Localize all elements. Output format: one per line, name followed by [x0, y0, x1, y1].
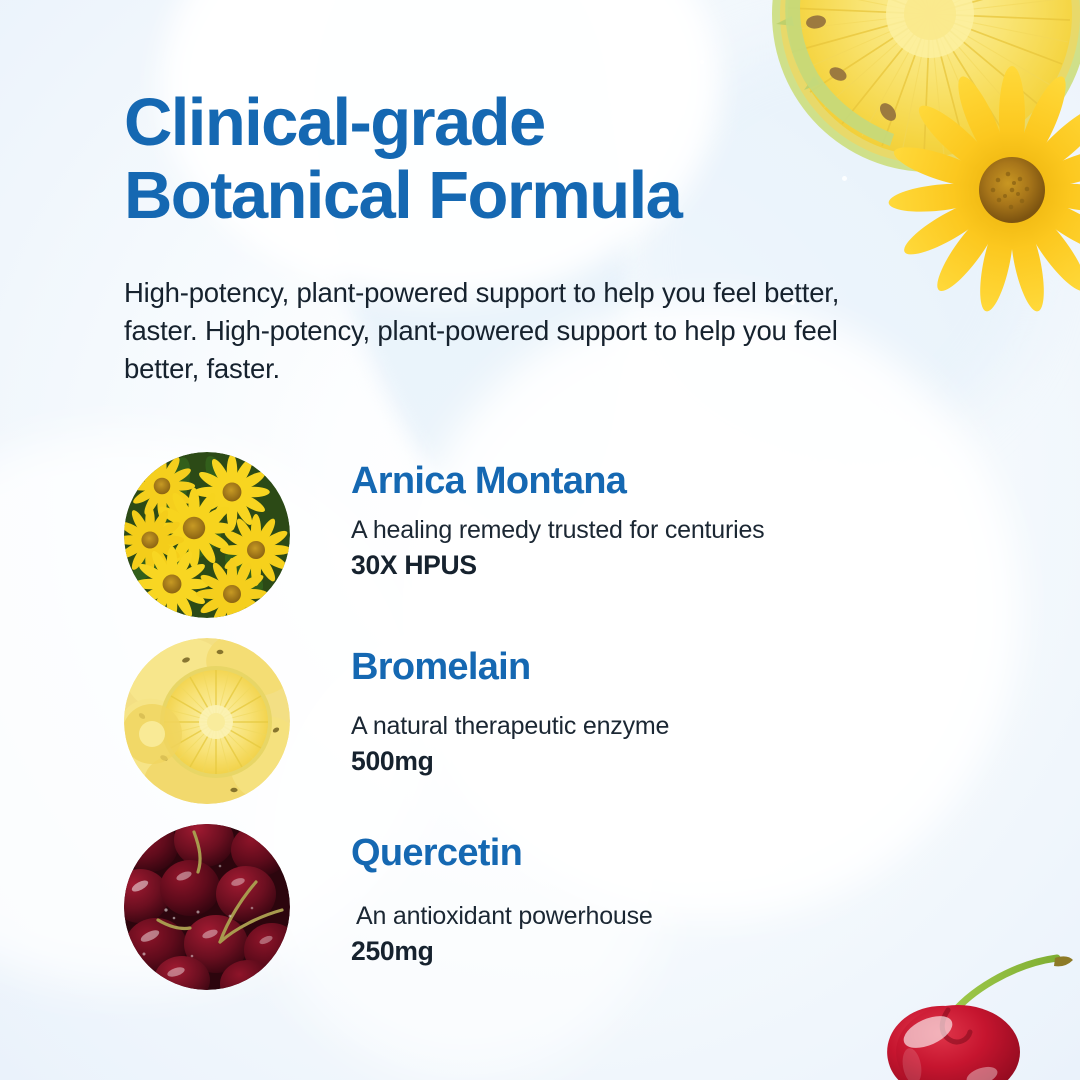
- ingredient-dose: 500mg: [351, 746, 923, 778]
- ingredient-text: Arnica Montana A healing remedy trusted …: [351, 460, 923, 581]
- headline-line-1: Clinical-grade: [124, 85, 545, 160]
- ingredient-description: An antioxidant powerhouse: [351, 901, 923, 931]
- ingredient-description: A natural therapeutic enzyme: [351, 711, 923, 741]
- list-item: Quercetin An antioxidant powerhouse 250m…: [124, 824, 924, 1004]
- page-title: Clinical-grade Botanical Formula: [124, 86, 884, 232]
- ingredient-dose: 30X HPUS: [351, 550, 923, 582]
- sparkle-dot: [905, 96, 912, 103]
- headline-line-2: Botanical Formula: [124, 159, 884, 232]
- cherries-photo: [124, 824, 290, 990]
- ingredient-name: Bromelain: [351, 646, 923, 689]
- subheadline: High-potency, plant-powered support to h…: [124, 274, 896, 388]
- sparkle-dot: [960, 246, 966, 252]
- ingredient-dose: 250mg: [351, 936, 923, 968]
- ingredient-name: Arnica Montana: [351, 460, 923, 503]
- infographic-canvas: Clinical-grade Botanical Formula High-po…: [0, 0, 1080, 1080]
- list-item: Bromelain A natural therapeutic enzyme 5…: [124, 638, 924, 818]
- sparkle-dot: [700, 60, 704, 64]
- list-item: Arnica Montana A healing remedy trusted …: [124, 452, 924, 632]
- ingredient-text: Bromelain A natural therapeutic enzyme 5…: [351, 646, 923, 777]
- arnica-flowers-photo: [124, 452, 290, 618]
- ingredient-description: A healing remedy trusted for centuries: [351, 515, 923, 545]
- pineapple-slices-photo: [124, 638, 290, 804]
- ingredient-name: Quercetin: [351, 832, 923, 875]
- ingredient-text: Quercetin An antioxidant powerhouse 250m…: [351, 832, 923, 967]
